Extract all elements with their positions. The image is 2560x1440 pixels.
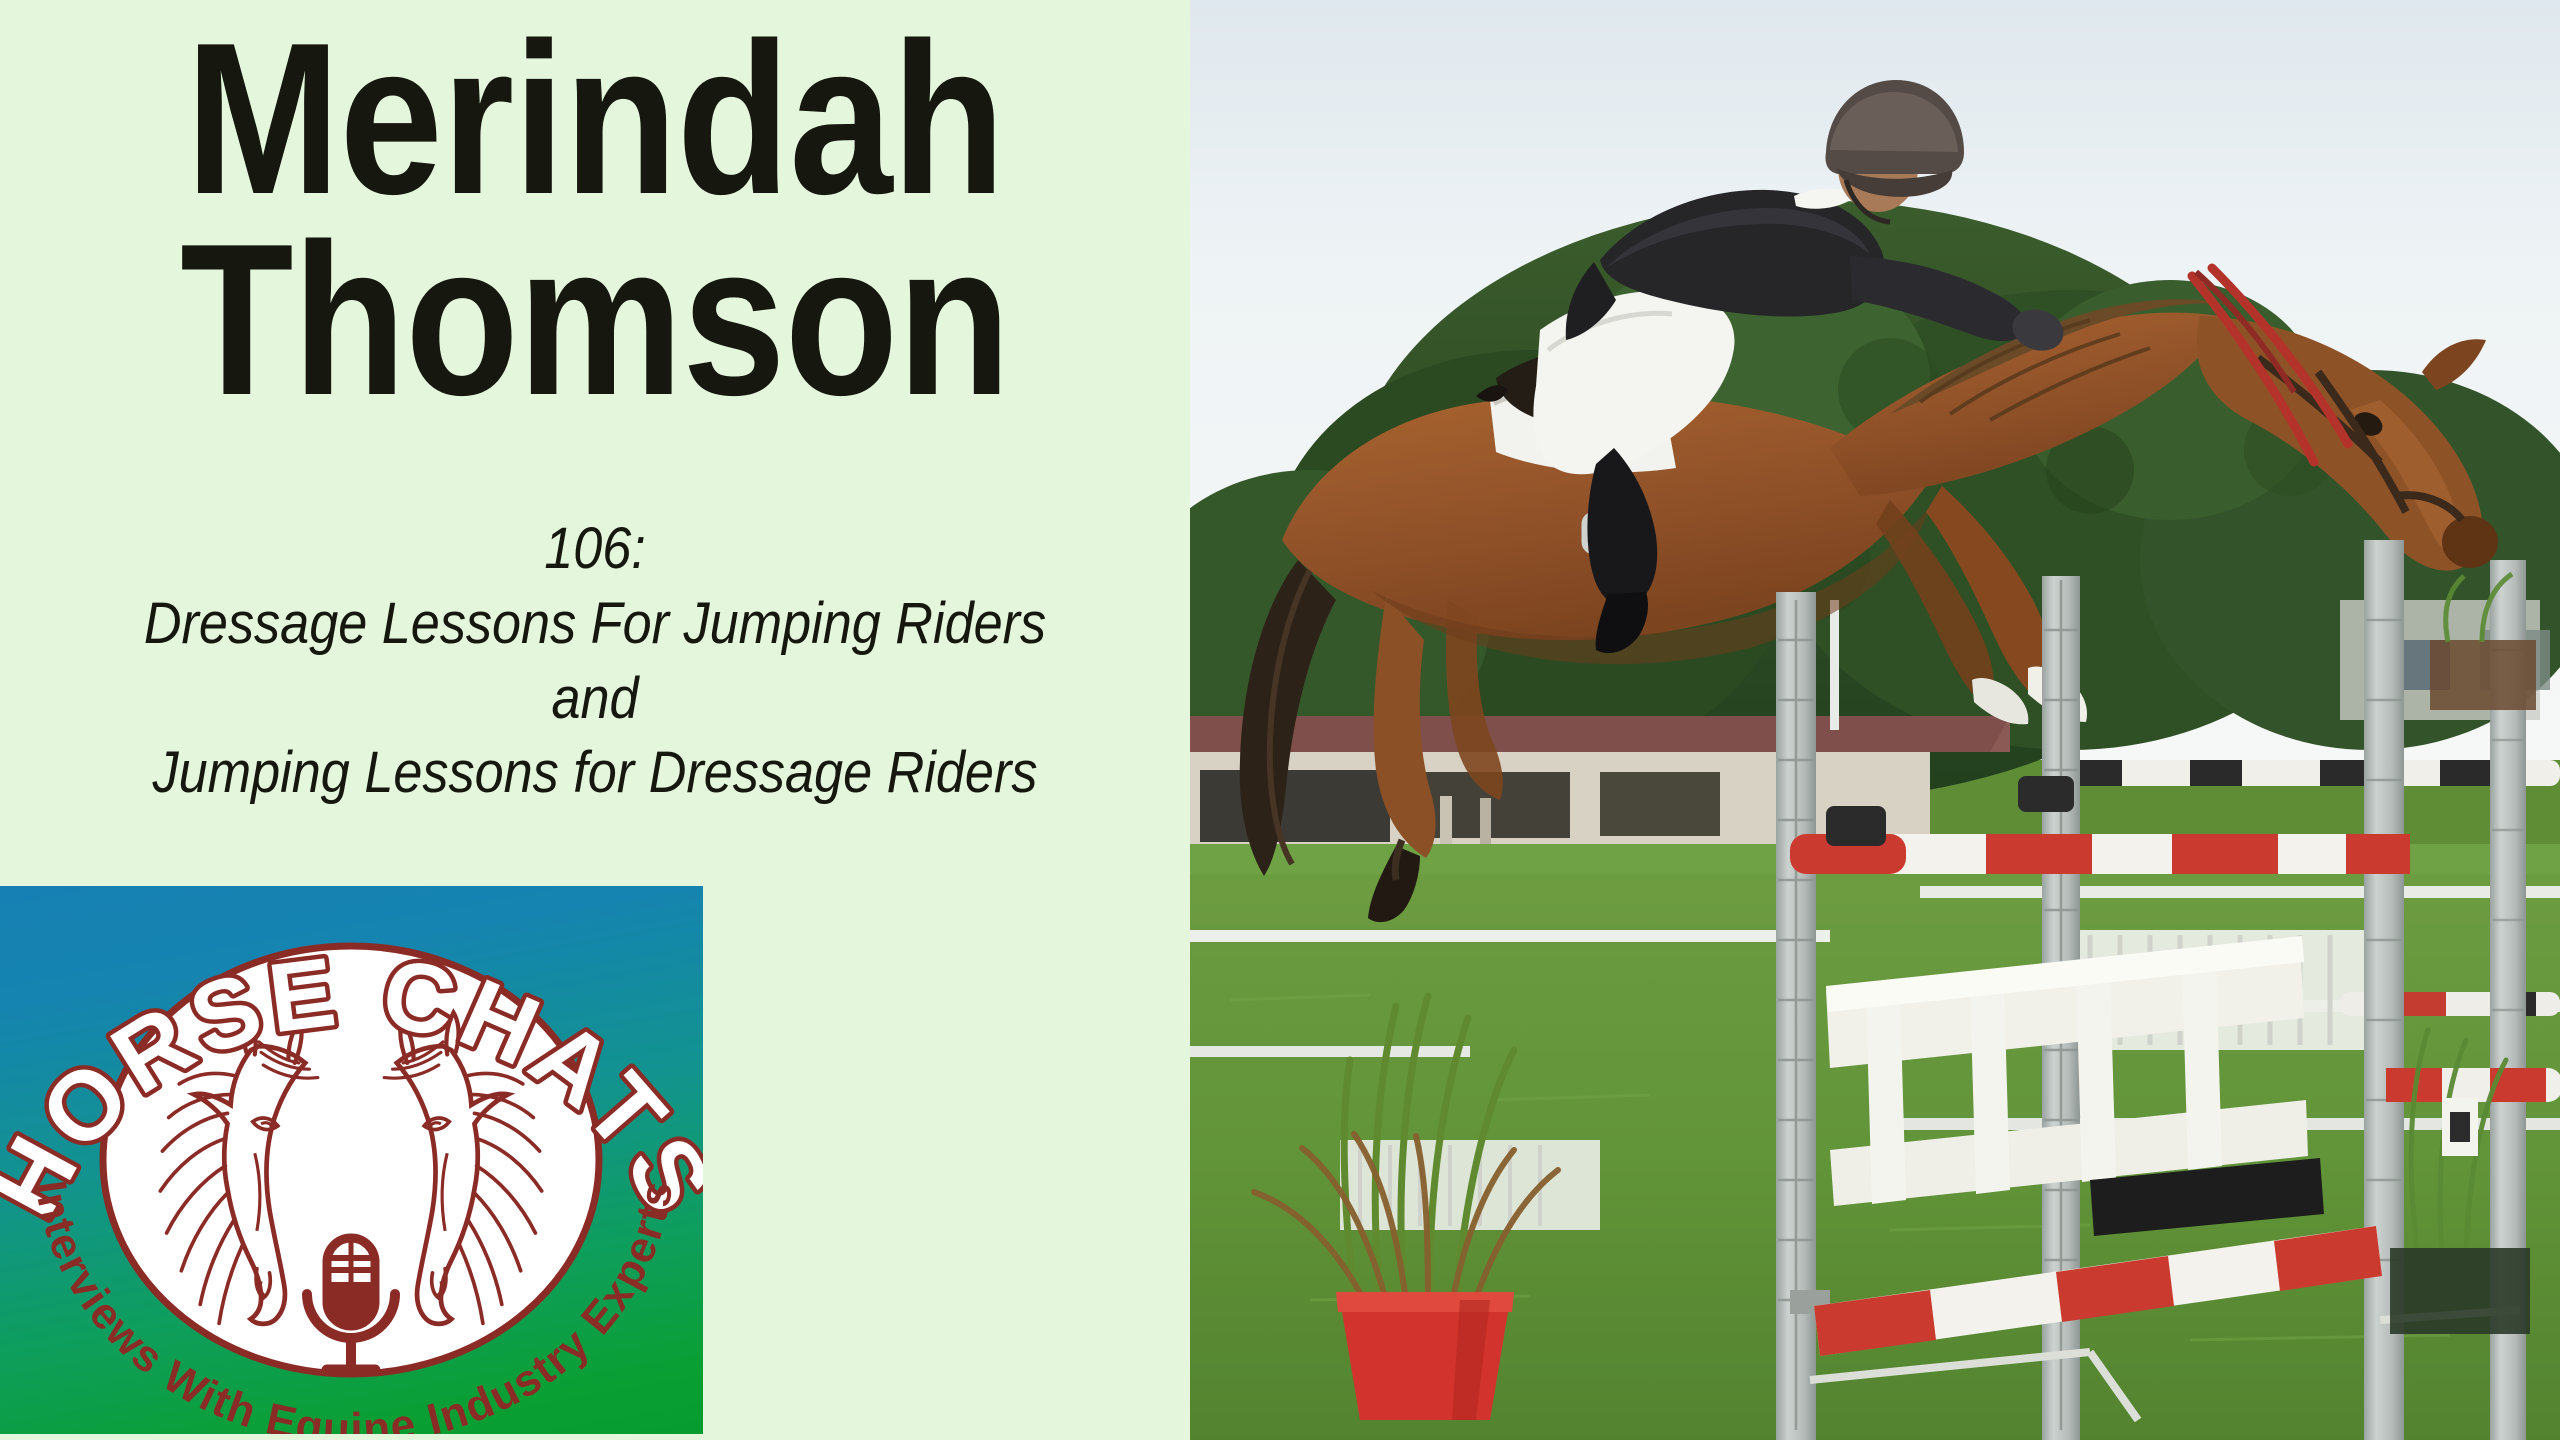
episode-subtitle: 106: Dressage Lessons For Jumping Riders… <box>60 512 1131 811</box>
cover-canvas: Merindah Thomson 106: Dressage Lessons F… <box>0 0 2560 1440</box>
logo-artwork: HORSE CHATS Interviews With Equine Indus… <box>0 886 703 1434</box>
background-post <box>1830 600 1839 730</box>
photo-artwork <box>1190 0 2560 1440</box>
cover-photo <box>1190 0 2560 1440</box>
episode-title-line-1: Dressage Lessons For Jumping Riders <box>60 587 1131 662</box>
horse-chats-logo: HORSE CHATS Interviews With Equine Indus… <box>0 886 703 1434</box>
episode-number: 106: <box>60 512 1131 587</box>
left-panel: Merindah Thomson 106: Dressage Lessons F… <box>0 0 1190 1440</box>
jump-number-plaque <box>2442 1098 2478 1156</box>
page-title: Merindah Thomson <box>83 18 1106 420</box>
episode-title-line-2: Jumping Lessons for Dressage Riders <box>60 736 1131 811</box>
episode-title-conjunction: and <box>60 662 1131 737</box>
